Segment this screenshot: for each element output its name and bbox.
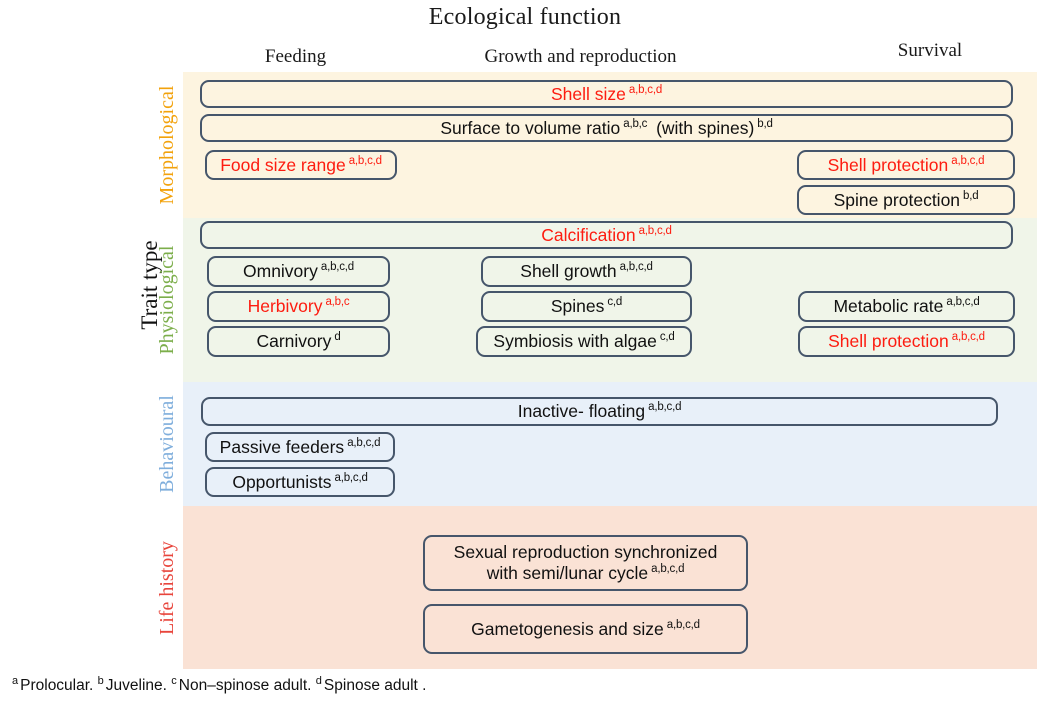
trait-extra-superscript: b,d	[757, 118, 772, 130]
footnote-marker-a: a	[12, 675, 18, 687]
footnote-text-d: Spinose adult .	[324, 677, 427, 694]
trait-label: Shell growth	[520, 261, 616, 281]
trait-label: Shell protection	[828, 155, 949, 175]
trait-superscript: a,b,c,d	[651, 563, 684, 575]
trait-label: Metabolic rate	[833, 296, 943, 316]
trait-label: Shell protection	[828, 331, 949, 351]
trait-box-spines[interactable]: Spinesc,d	[481, 291, 692, 322]
footnote: aProlocular. bJuveline. cNon–spinose adu…	[12, 675, 812, 695]
trait-label: Surface to volume ratio	[440, 118, 620, 138]
trait-label: Carnivory	[256, 331, 331, 351]
trait-superscript: a,b,c,d	[667, 619, 700, 631]
trait-superscript: a,b,c	[325, 296, 349, 308]
trait-box-gametogenesis[interactable]: Gametogenesis and sizea,b,c,d	[423, 604, 748, 654]
column-header-growth: Growth and reproduction	[448, 46, 713, 68]
trait-label: Herbivory	[248, 296, 323, 316]
trait-label: Symbiosis with algae	[493, 331, 656, 351]
column-header-feeding: Feeding	[228, 46, 363, 68]
trait-box-inactive-floating[interactable]: Inactive- floatinga,b,c,d	[201, 397, 998, 426]
trait-label: Omnivory	[243, 261, 318, 281]
footnote-text-b: Juveline.	[106, 677, 171, 694]
trait-label: Calcification	[541, 225, 635, 245]
trait-superscript: d	[334, 331, 340, 343]
figure-root: Ecological function Feeding Growth and r…	[0, 0, 1050, 709]
trait-superscript: a,b,c,d	[347, 437, 380, 449]
trait-box-shell-protection[interactable]: Shell protectiona,b,c,d	[797, 150, 1015, 180]
trait-box-shell-growth[interactable]: Shell growtha,b,c,d	[481, 256, 692, 287]
trait-superscript: a,b,c,d	[321, 261, 354, 273]
trait-superscript: a,b,c,d	[639, 225, 672, 237]
trait-box-herbivory[interactable]: Herbivorya,b,c	[207, 291, 390, 322]
trait-box-shell-protection-phys[interactable]: Shell protectiona,b,c,d	[798, 326, 1015, 357]
trait-box-sexual-reproduction[interactable]: Sexual reproduction synchronized with se…	[423, 535, 748, 591]
trait-box-carnivory[interactable]: Carnivoryd	[207, 326, 390, 357]
column-header-survival: Survival	[855, 40, 1005, 62]
trait-label: Spines	[551, 296, 605, 316]
trait-box-metabolic-rate[interactable]: Metabolic ratea,b,c,d	[798, 291, 1015, 322]
trait-box-surface-volume[interactable]: Surface to volume ratioa,b,c (with spine…	[200, 114, 1013, 142]
trait-superscript: a,b,c,d	[952, 331, 985, 343]
trait-box-spine-protection[interactable]: Spine protectionb,d	[797, 185, 1015, 215]
trait-box-calcification[interactable]: Calcificationa,b,c,d	[200, 221, 1013, 249]
trait-box-passive-feeders[interactable]: Passive feedersa,b,c,d	[205, 432, 395, 462]
chart-title: Ecological function	[0, 4, 1050, 31]
trait-superscript: c,d	[660, 331, 675, 343]
trait-superscript: a,b,c,d	[946, 296, 979, 308]
trait-box-food-size-range[interactable]: Food size rangea,b,c,d	[205, 150, 397, 180]
trait-label: Food size range	[220, 155, 346, 175]
trait-box-opportunists[interactable]: Opportunistsa,b,c,d	[205, 467, 395, 497]
trait-label: Inactive- floating	[518, 401, 645, 421]
trait-label: Passive feeders	[220, 437, 345, 457]
footnote-marker-b: b	[98, 675, 104, 687]
trait-label: Gametogenesis and size	[471, 619, 664, 639]
trait-superscript: a,b,c,d	[335, 472, 368, 484]
trait-superscript: a,b,c,d	[620, 261, 653, 273]
footnote-marker-c: c	[171, 675, 177, 687]
trait-superscript: a,b,c,d	[629, 84, 662, 96]
trait-superscript: a,b,c,d	[349, 155, 382, 167]
footnote-text-a: Prolocular.	[20, 677, 98, 694]
trait-extra-label: (with spines)	[651, 118, 754, 138]
band-label-life_history: Life history	[152, 478, 182, 698]
trait-superscript: b,d	[963, 190, 978, 202]
footnote-marker-d: d	[316, 675, 322, 687]
trait-superscript: a,b,c,d	[951, 155, 984, 167]
trait-superscript: a,b,c	[623, 118, 647, 130]
trait-box-omnivory[interactable]: Omnivorya,b,c,d	[207, 256, 390, 287]
trait-superscript: c,d	[607, 296, 622, 308]
trait-label: Spine protection	[834, 190, 960, 210]
trait-box-symbiosis-algae[interactable]: Symbiosis with algaec,d	[476, 326, 692, 357]
trait-superscript: a,b,c,d	[648, 401, 681, 413]
footnote-text-c: Non–spinose adult.	[179, 677, 316, 694]
trait-box-shell-size[interactable]: Shell sizea,b,c,d	[200, 80, 1013, 108]
trait-label: Opportunists	[232, 472, 331, 492]
trait-label: Shell size	[551, 84, 626, 104]
